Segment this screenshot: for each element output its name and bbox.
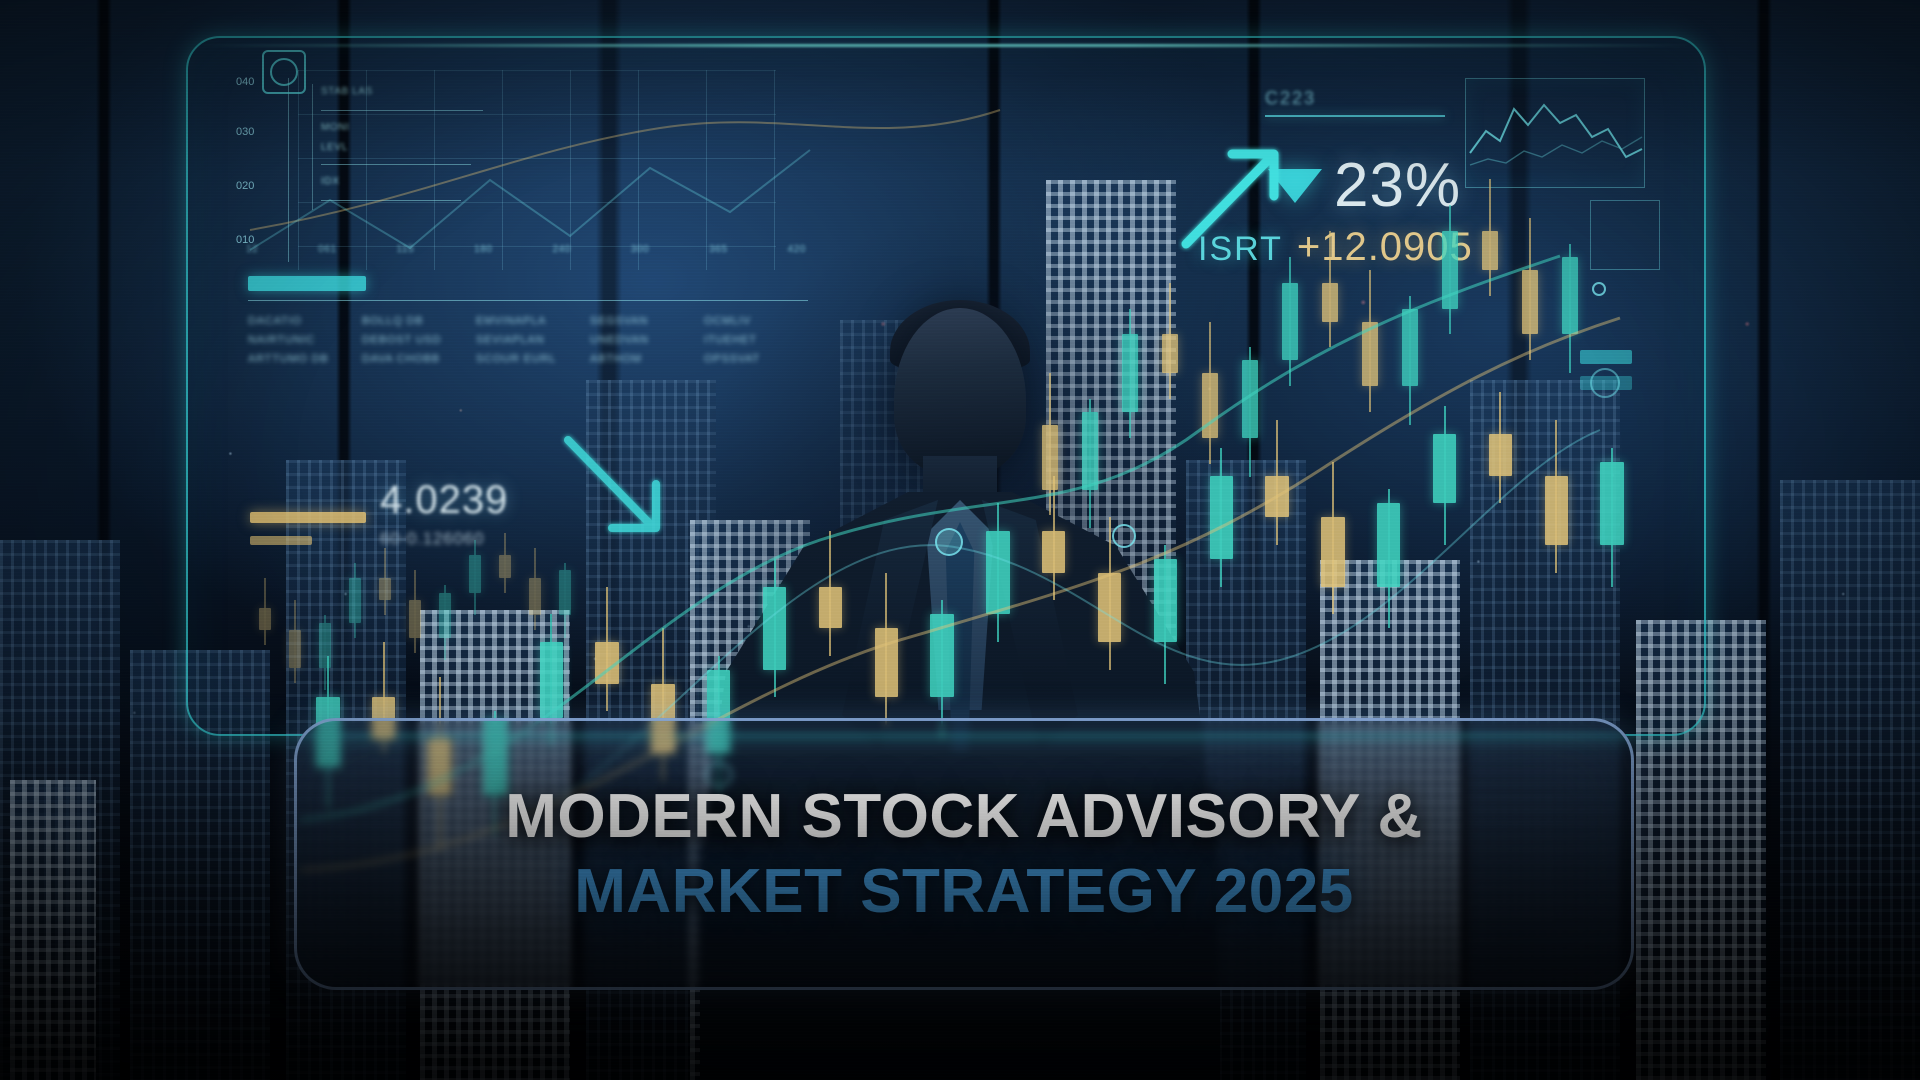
candlestick <box>1082 60 1098 580</box>
hologram-scanline <box>196 44 1696 47</box>
candlestick <box>1122 60 1138 580</box>
candle-body <box>1522 270 1538 335</box>
x-tick-label: 365 <box>709 244 728 255</box>
y-tick-label: 030 <box>236 126 254 138</box>
x-tick-label: 300 <box>631 244 650 255</box>
data-node <box>1592 282 1606 296</box>
candlestick <box>1562 60 1578 580</box>
table-cell: OCMLIV <box>704 313 808 330</box>
x-axis-labels: 12 061 115 180 240 300 365 420 <box>246 244 806 255</box>
candle-body <box>469 555 480 593</box>
top-left-candle-chart <box>370 78 790 258</box>
candle-body <box>499 555 510 578</box>
mini-panel-label: LEVL <box>321 142 348 153</box>
candle-body <box>1098 573 1121 642</box>
table-cell: EMVINAPLA <box>476 313 580 330</box>
candle-body <box>1242 360 1258 438</box>
x-tick-label: 061 <box>318 244 337 255</box>
title-line-1: MODERN STOCK ADVISORY & <box>505 781 1423 852</box>
candlestick <box>1522 60 1538 580</box>
x-tick-label: 115 <box>397 244 415 255</box>
candle-body <box>1482 231 1498 270</box>
candlestick <box>1322 60 1338 580</box>
mini-panel-label: MONI <box>321 122 350 133</box>
candle-body <box>595 642 618 684</box>
candlestick <box>1442 60 1458 580</box>
candlestick <box>259 450 270 780</box>
candlestick <box>1482 60 1498 580</box>
candlestick <box>289 450 300 780</box>
candle-body <box>1282 283 1298 361</box>
divider <box>248 300 808 301</box>
candlestick <box>1282 60 1298 580</box>
candle-body <box>1082 412 1098 490</box>
candlestick <box>1042 60 1058 580</box>
candle-body <box>439 593 450 638</box>
x-tick-label: 12 <box>246 244 258 255</box>
title-line-2: MARKET STRATEGY 2025 <box>574 856 1353 927</box>
candle-body <box>349 578 360 623</box>
candlestick <box>1202 60 1218 580</box>
candlestick <box>1402 60 1418 580</box>
candle-body <box>1600 462 1623 545</box>
y-axis <box>288 78 289 262</box>
y-tick-label: 040 <box>236 76 254 88</box>
candle-body <box>319 623 330 668</box>
candle-body <box>259 608 270 631</box>
highlight-bar <box>248 276 366 291</box>
gear-icon[interactable] <box>262 50 306 94</box>
candle-body <box>559 570 570 615</box>
x-tick-label: 240 <box>552 244 571 255</box>
candle-body <box>875 628 898 697</box>
candle-body <box>1122 334 1138 412</box>
candle-body <box>763 587 786 670</box>
table-cell: SEGSVAN <box>590 313 694 330</box>
candle-body <box>409 600 420 638</box>
mini-panel-label: IDX <box>321 176 339 187</box>
secondary-candlestick-chart <box>1030 60 1590 580</box>
candle-body <box>1042 425 1058 490</box>
candle-body <box>289 630 300 668</box>
candle-body <box>1202 373 1218 438</box>
title-card: MODERN STOCK ADVISORY & MARKET STRATEGY … <box>294 718 1634 990</box>
x-tick-label: 180 <box>474 244 493 255</box>
candle-body <box>986 531 1009 614</box>
hud-mini-card <box>1590 200 1660 270</box>
candle-body <box>819 587 842 629</box>
promo-banner: 040 030 020 010 STAB LAS MONI LEVL IDX 1… <box>0 0 1920 1080</box>
data-node <box>1112 524 1136 548</box>
candlestick <box>1162 60 1178 580</box>
data-node <box>935 528 963 556</box>
candle-body <box>379 578 390 601</box>
candlestick <box>1242 60 1258 580</box>
candle-body <box>1162 334 1178 373</box>
candle-body <box>1402 309 1418 387</box>
table-cell: DACATIO <box>248 313 352 330</box>
candle-body <box>930 614 953 697</box>
candle-body <box>1362 322 1378 387</box>
y-tick-label: 020 <box>236 180 254 192</box>
x-tick-label: 420 <box>787 244 806 255</box>
candlestick <box>1362 60 1378 580</box>
candle-body <box>1562 257 1578 335</box>
candle-body <box>1322 283 1338 322</box>
candle-body <box>1442 231 1458 309</box>
candle-body <box>529 578 540 616</box>
mini-panel-label: STAB LAS <box>321 86 373 97</box>
table-cell: BOLLQ DB <box>362 313 466 330</box>
